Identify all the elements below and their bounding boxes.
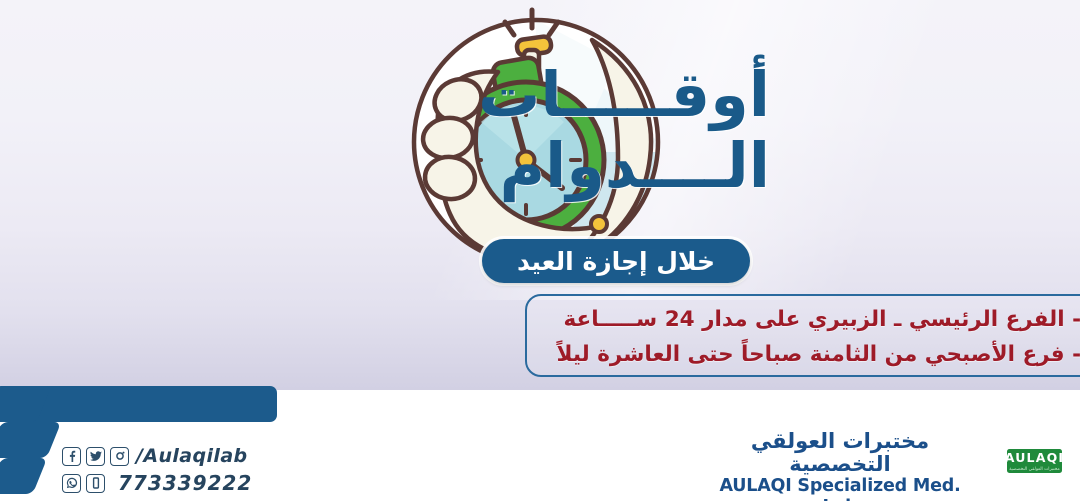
twitter-icon[interactable] (86, 447, 105, 466)
brand-logo: مختبرات العولقي التخصصية AULAQI Speciali… (716, 430, 1068, 498)
social-row-handle: /Aulaqilab (62, 444, 252, 468)
logo-english-name: AULAQI Specialized Med. Lab (716, 476, 964, 501)
hours-box: - الفرع الرئيسي ـ الزبيري على مدار 24 سـ… (525, 294, 1080, 377)
logo-arabic-name: مختبرات العولقي التخصصية (716, 430, 964, 475)
facebook-icon[interactable] (62, 447, 81, 466)
hours-line-main-branch: - الفرع الرئيسي ـ الزبيري على مدار 24 سـ… (527, 303, 1080, 338)
logo-text-block: مختبرات العولقي التخصصية AULAQI Speciali… (716, 430, 964, 501)
decorative-bars (0, 386, 424, 430)
phone-number: 773339222 (118, 471, 252, 495)
whatsapp-icon[interactable] (62, 474, 81, 493)
social-handle: /Aulaqilab (136, 445, 248, 467)
poster-title: أوقـــــات الــــدوام (300, 62, 770, 200)
hours-line-asbahi-branch: - فرع الأصبحي من الثامنة صباحاً حتى العا… (527, 338, 1080, 373)
social-contact-block: /Aulaqilab 773339222 (62, 444, 252, 498)
eid-banner-label: خلال إجازة العيد (517, 247, 715, 276)
social-row-phone: 773339222 (62, 471, 252, 495)
svg-text:AULAQI: AULAQI (1005, 450, 1065, 465)
instagram-icon[interactable] (110, 447, 129, 466)
title-line-1: أوقـــــات (300, 62, 770, 129)
svg-text:مختبرات العولقي التخصصية: مختبرات العولقي التخصصية (1009, 467, 1060, 472)
eid-banner: خلال إجازة العيد (482, 239, 750, 283)
poster-root: أوقـــــات الــــدوام (0, 0, 1080, 501)
red-crescent-logo-icon: AULAQI مختبرات العولقي التخصصية (966, 428, 1066, 494)
title-line-2: الــــدوام (300, 133, 770, 200)
phone-icon[interactable] (86, 474, 105, 493)
